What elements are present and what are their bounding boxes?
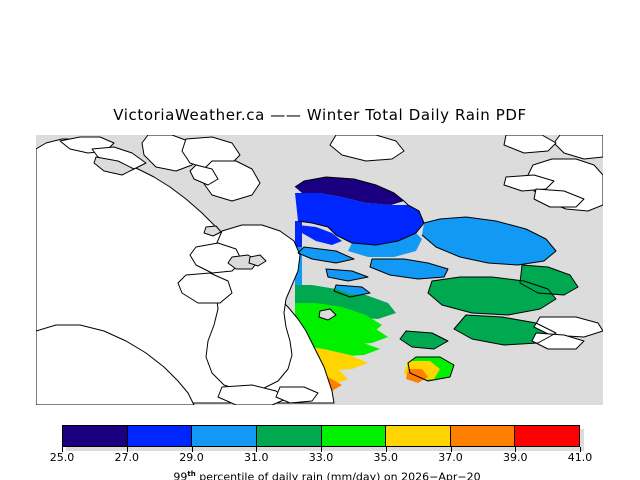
colorbar-ticks: 25.027.029.031.033.035.037.039.041.0 bbox=[0, 425, 640, 439]
map-panel bbox=[36, 135, 603, 405]
figure-canvas: VictoriaWeather.ca —— Winter Total Daily… bbox=[0, 0, 640, 480]
page-title: VictoriaWeather.ca —— Winter Total Daily… bbox=[0, 106, 640, 124]
caption-prefix: 99 bbox=[173, 471, 187, 480]
caption-ordinal-suffix: th bbox=[187, 470, 195, 478]
contour-band-27-29-left bbox=[295, 221, 302, 247]
colorbar-caption: 99th percentile of daily rain (mm/day) o… bbox=[0, 457, 640, 480]
map-svg bbox=[36, 135, 603, 405]
caption-rest: percentile of daily rain (mm/day) on 202… bbox=[196, 471, 481, 480]
